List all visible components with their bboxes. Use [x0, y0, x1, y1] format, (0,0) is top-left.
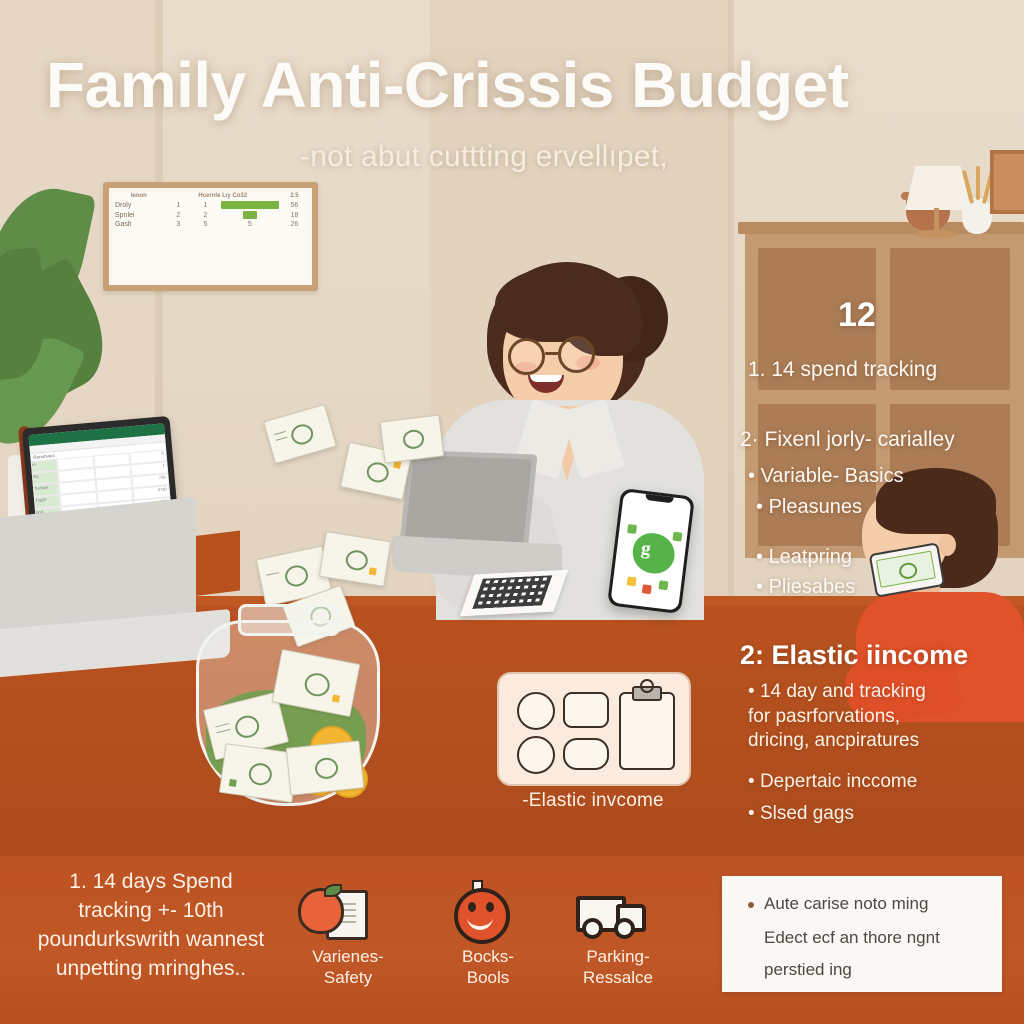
- qr-code-icon: [472, 575, 552, 609]
- bottom-icon-group-parking[interactable]: Parking- Ressalce: [558, 884, 678, 989]
- note-line: Aute carise noto ming: [764, 894, 928, 914]
- note-line: perstied ing: [764, 960, 852, 980]
- section2-bullet-label: 14 day and tracking for pasrforvations, …: [748, 681, 926, 751]
- right-bullet-label: Pleasunes: [769, 496, 862, 518]
- smiley-circle: [454, 888, 510, 944]
- wb-cell: 18: [281, 210, 308, 220]
- section2-bullet: • Depertaic inccome: [748, 770, 998, 795]
- banknote-mark: [332, 694, 340, 702]
- app-dot-icon: [627, 576, 637, 586]
- section2-heading: 2: Elastic iincome: [740, 640, 968, 671]
- wb-bar: [221, 201, 279, 209]
- truck-wheel-icon: [582, 918, 603, 939]
- wb-cell: 1: [192, 200, 219, 210]
- wb-cell: 2: [192, 210, 219, 220]
- bottom-icon-label: Varienes- Safety: [288, 946, 408, 989]
- whiteboard-row: Gaslt 3 5 5 26: [113, 220, 308, 229]
- shelf-number-badge: 12: [838, 296, 876, 335]
- bottom-left-note: 1. 14 days Spend tracking +- 10th poundu…: [36, 868, 266, 984]
- wb-cell: 5: [219, 220, 281, 229]
- boy-ear: [938, 534, 956, 556]
- woman-teeth: [530, 375, 562, 382]
- glasses-bridge: [545, 352, 559, 355]
- elastic-income-card[interactable]: [497, 672, 691, 786]
- whiteboard-table: Ienon Hcernle Lıy Co32 2.5 Droly 1 1 56 …: [113, 192, 308, 229]
- table-lamp-base: [916, 230, 958, 238]
- wall-frame: [990, 150, 1024, 214]
- wb-cell: 2: [165, 210, 192, 220]
- page-title: Family Anti-Crissis Budget: [46, 52, 986, 119]
- reed-diffuser-vase: [962, 198, 992, 234]
- radio-circle-icon[interactable]: [517, 736, 555, 774]
- phone-notch: [645, 494, 674, 503]
- bottom-icon-label: Parking- Ressalce: [558, 946, 678, 989]
- banknote-seal: [289, 422, 316, 447]
- wb-bar: [243, 211, 257, 219]
- section2-bullet: • 14 day and tracking for pasrforvations…: [748, 680, 998, 754]
- banknote-mark: [229, 779, 237, 787]
- banknote-seal: [303, 671, 332, 698]
- smiley-eye-icon: [486, 902, 494, 912]
- smiley-eye-icon: [468, 902, 476, 912]
- wb-cell-bar: [219, 200, 281, 210]
- app-dot-icon: [627, 524, 637, 534]
- banknote-line: [274, 431, 286, 435]
- infographic-poster: Ienon Hcernle Lıy Co32 2.5 Droly 1 1 56 …: [0, 0, 1024, 1024]
- delivery-truck-icon: [558, 884, 678, 940]
- banknote-line: [276, 437, 288, 441]
- banknote-seal: [365, 460, 391, 484]
- clipboard-ring: [640, 679, 654, 693]
- wb-corner-value: 2.5: [281, 192, 308, 200]
- section2-bullet: • Slsed gags: [748, 802, 998, 827]
- app-dot-icon: [672, 532, 682, 542]
- whiteboard-row: Spnlei 2 2 18: [113, 210, 308, 220]
- smiley-face-icon: [428, 884, 548, 940]
- wb-title: Hcernle Lıy Co32: [165, 192, 281, 200]
- note-line: Edect ecf an thore ngnt: [764, 928, 940, 948]
- smartphone-on-desk[interactable]: g: [607, 488, 695, 614]
- budget-app-icon[interactable]: [630, 531, 677, 576]
- diffuser-stick: [976, 166, 980, 200]
- smiley-mouth-icon: [467, 912, 493, 930]
- banknote-seal: [344, 549, 369, 572]
- right-list-item-2: 2· Fixenl jorly- carialley: [740, 428, 955, 452]
- qr-receipt-paper: [460, 570, 569, 617]
- rounded-square-icon[interactable]: [563, 692, 609, 728]
- right-bullet-label: Pliesabes: [769, 576, 856, 598]
- banknote-seal: [283, 563, 310, 588]
- banknote-line: [266, 572, 279, 576]
- truck-wheel-icon: [614, 918, 635, 939]
- app-dot-icon: [642, 584, 652, 594]
- whiteboard-row: Droly 1 1 56: [113, 200, 308, 210]
- right-list-item-1: 1. 14 spend tracking: [748, 358, 937, 382]
- banknote-seal: [233, 713, 262, 740]
- table-lamp-shade: [905, 166, 971, 210]
- radio-circle-icon[interactable]: [517, 692, 555, 730]
- app-dot-icon: [658, 580, 668, 590]
- jar-neck: [238, 604, 340, 636]
- banknote: [380, 415, 445, 464]
- wb-row-label: Gaslt: [113, 220, 165, 229]
- right-bullet: • Pliesabes: [756, 576, 855, 599]
- wb-cell: 26: [281, 220, 308, 229]
- section2-bullet-label: Slsed gags: [760, 803, 854, 824]
- right-bullet-label: Variable- Basics: [761, 465, 904, 487]
- right-bullet: • Variable- Basics: [748, 465, 904, 488]
- wb-row-label: Spnlei: [113, 210, 165, 220]
- clipboard-icon[interactable]: [619, 692, 675, 770]
- elastic-income-caption: -Elastic invcome: [470, 790, 716, 812]
- wb-cell-bar: [219, 210, 281, 220]
- wb-cell: 1: [165, 200, 192, 210]
- bottom-icon-group-varieties[interactable]: Varienes- Safety: [288, 884, 408, 989]
- wb-cell: 56: [281, 200, 308, 210]
- banknote-mark: [369, 567, 377, 575]
- banknote-seal: [247, 762, 273, 787]
- wb-cell: 5: [192, 220, 219, 229]
- page-subtitle: -not abut cuttting ervellıpet,: [300, 140, 860, 174]
- phone-banknote-image: [876, 551, 936, 588]
- bottom-note-card: Aute carise noto ming Edect ecf an thore…: [722, 876, 1002, 992]
- section2-bullet-label: Depertaic inccome: [760, 771, 917, 792]
- pill-shape-icon[interactable]: [563, 738, 609, 770]
- bottom-icon-label: Bocks- Bools: [428, 946, 548, 989]
- whiteboard-surface: Ienon Hcernle Lıy Co32 2.5 Droly 1 1 56 …: [113, 192, 308, 281]
- phone-screen[interactable]: g: [610, 491, 691, 610]
- glasses-lens-icon: [558, 336, 595, 373]
- jar-banknote: [286, 740, 365, 795]
- right-bullet: • Pleasunes: [756, 496, 862, 519]
- banknote-line: [217, 729, 231, 733]
- banknote-seal: [402, 429, 425, 450]
- right-bullet: • Leatpring: [756, 546, 852, 569]
- bottom-icon-group-books[interactable]: Bocks- Bools: [428, 884, 548, 989]
- apple-notepad-icon: [288, 884, 408, 940]
- note-bullet-icon: [748, 902, 754, 908]
- right-bullet-label: Leatpring: [769, 546, 852, 568]
- wall-whiteboard: Ienon Hcernle Lıy Co32 2.5 Droly 1 1 56 …: [103, 182, 318, 291]
- banknote-line: [215, 723, 229, 727]
- glasses-lens-icon: [508, 338, 545, 375]
- wb-row-label: Droly: [113, 200, 165, 210]
- wb-cell: 3: [165, 220, 192, 229]
- wb-col-label: Ienon: [113, 192, 165, 200]
- banknote-seal: [314, 757, 339, 780]
- banknote-seal: [898, 561, 919, 580]
- app-icon-letter: g: [640, 538, 652, 561]
